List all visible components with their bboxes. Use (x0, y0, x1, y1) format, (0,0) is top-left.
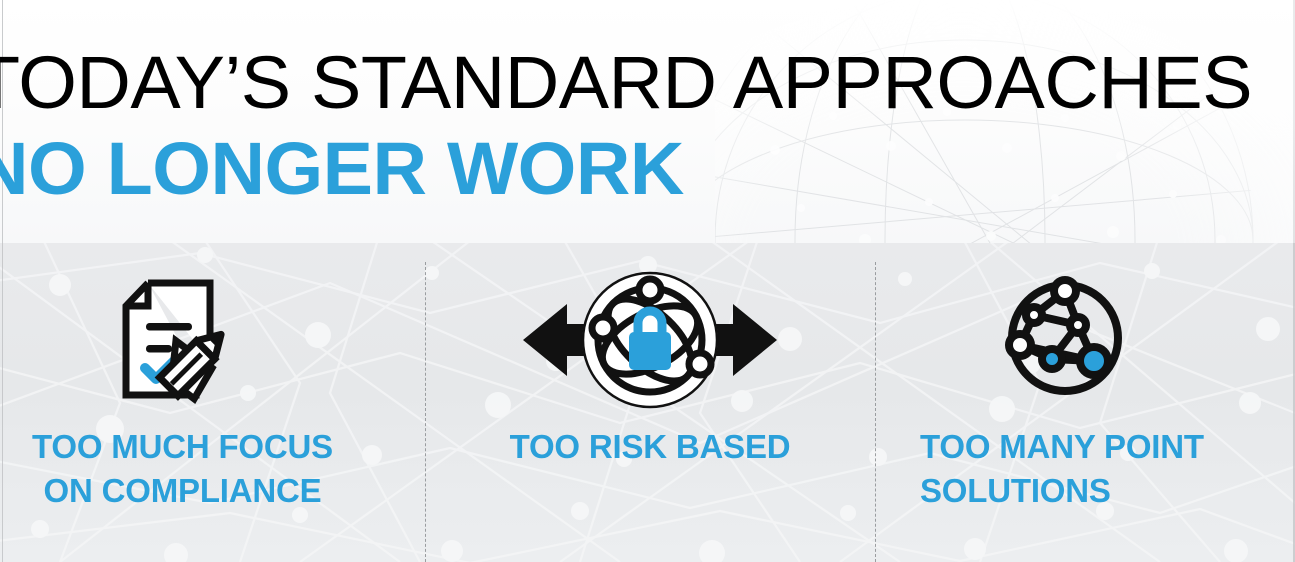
column-label-risk-based: TOO RISK BASED (425, 425, 875, 469)
column-compliance: TOO MUCH FOCUS ON COMPLIANCE (0, 243, 425, 562)
top-hairline (0, 0, 1295, 2)
network-lock-arrows-icon (425, 265, 875, 415)
presentation-slide: TODAY’S STANDARD APPROACHES NO LONGER WO… (0, 0, 1295, 562)
headline-line-2: NO LONGER WORK (0, 132, 1295, 206)
document-checklist-pencil-icon (0, 265, 425, 415)
column-point-solutions: TOO MANY POINT SOLUTIONS (875, 243, 1295, 562)
slide-content-band: TOO MUCH FOCUS ON COMPLIANCE (0, 243, 1295, 562)
headline-line-1: TODAY’S STANDARD APPROACHES (0, 46, 1295, 120)
slide-header-band: TODAY’S STANDARD APPROACHES NO LONGER WO… (0, 0, 1295, 243)
network-nodes-icon (875, 265, 1295, 415)
column-label-point-solutions: TOO MANY POINT SOLUTIONS (920, 425, 1295, 513)
column-risk-based: TOO RISK BASED (425, 243, 875, 562)
headline-block: TODAY’S STANDARD APPROACHES NO LONGER WO… (0, 46, 1295, 206)
column-label-compliance: TOO MUCH FOCUS ON COMPLIANCE (0, 425, 425, 513)
